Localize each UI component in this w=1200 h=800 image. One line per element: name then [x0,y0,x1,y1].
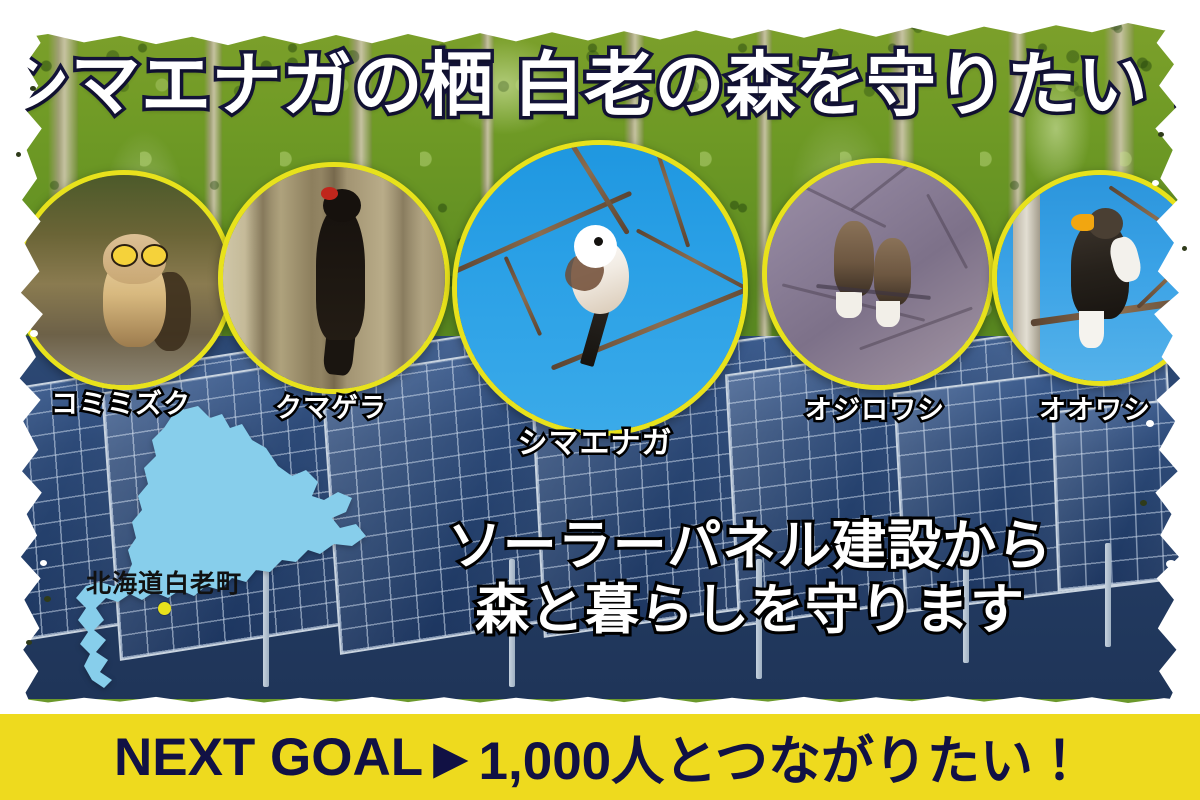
page-title: シマエナガの栖 白老の森を守りたい！ [0,50,1200,120]
next-goal-prefix: NEXT GOAL [114,727,423,788]
play-arrow-icon: ▶ [433,734,468,780]
bird-label-owl: コミミズク [26,382,216,421]
bird-circle-owl[interactable] [14,170,234,390]
hokkaido-map: 北海道白老町 [70,404,388,690]
bird-label-white-tailed-eagle: オジロワシ [770,388,980,427]
bird-label-woodpecker: クマゲラ [236,386,426,425]
photo-background: コミミズク クマゲラ [0,0,1200,714]
bird-label-tit: シマエナガ [470,418,720,462]
map-region-label: 北海道白老町 [86,564,242,600]
next-goal-text: NEXT GOAL ▶ 1,000人とつながりたい！ [114,719,1086,795]
subheading-line-1: ソーラーパネル建設から [430,515,1070,579]
bird-circle-stellers-sea-eagle[interactable] [992,170,1200,386]
subheading-line-2: 森と暮らしを守ります [430,579,1070,643]
bird-label-stellers-sea-eagle: オオワシ [1000,388,1190,427]
location-dot-icon [158,602,171,615]
next-goal-banner: NEXT GOAL ▶ 1,000人とつながりたい！ [0,714,1200,800]
bird-circle-tit[interactable] [452,140,748,436]
bird-circle-woodpecker[interactable] [218,162,450,394]
next-goal-value: 1,000人とつながりたい！ [479,719,1087,795]
hokkaido-map-shape [70,404,388,690]
subheading: ソーラーパネル建設から 森と暮らしを守ります [430,515,1070,642]
campaign-banner: コミミズク クマゲラ [0,0,1200,800]
bird-circle-white-tailed-eagle[interactable] [762,158,994,390]
